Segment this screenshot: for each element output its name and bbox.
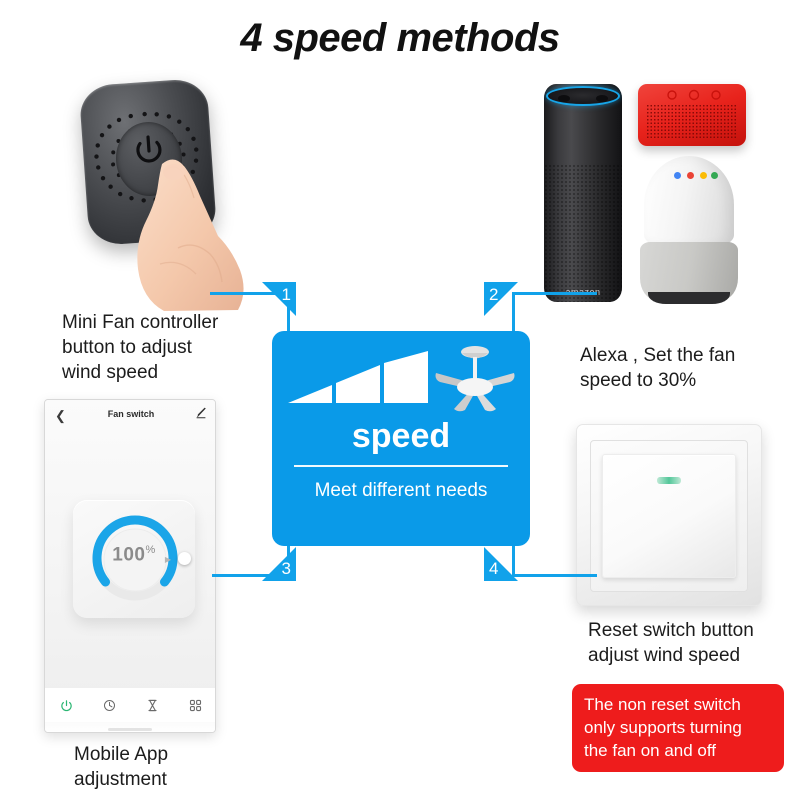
caption-3-line-2: adjustment [74,767,254,792]
echo-button-left [558,95,570,102]
step-number-4: 4 [489,559,498,579]
led-dot-green [711,172,718,179]
step-badge-1: 1 [262,282,296,316]
ceiling-fan-icon [432,345,518,415]
clock-icon [103,699,116,712]
led-dot-yellow [700,172,707,179]
caption-method-1: Mini Fan controller button to adjust win… [62,310,277,385]
step-badge-2: 2 [484,282,518,316]
power-tab[interactable] [45,699,88,712]
app-top-bar: ❮ Fan switch [45,406,216,428]
step-number-3: 3 [282,559,291,579]
app-title: Fan switch [45,409,216,419]
red-speaker-grill [646,104,738,138]
warning-line-3: the fan on and off [584,739,774,762]
hourglass-icon [146,699,159,712]
more-tab[interactable] [174,699,216,712]
amazon-echo: amazon [544,84,622,302]
warning-line-1: The non reset switch [584,693,774,716]
warning-line-2: only supports turning [584,716,774,739]
caption-1-line-3: wind speed [62,360,277,385]
switch-rocker-button[interactable] [602,454,736,578]
smart-speakers-group: amazon [522,72,784,317]
fan-speed-dial-card: 100% ▶ [73,500,195,618]
step-badge-3: 3 [262,547,296,581]
dial-caret-icon: ▶ [165,555,171,564]
card-divider [294,465,508,467]
mobile-app-phone: ❮ Fan switch 100% ▶ [44,399,216,733]
caption-4-line-1: Reset switch button [588,618,798,643]
phone-screen: ❮ Fan switch 100% ▶ [45,400,215,732]
caption-2-line-2: speed to 30% [580,368,790,393]
pencil-edit-icon[interactable] [195,407,207,419]
page-title: 4 speed methods [0,16,800,61]
dial-value-label: 100% [73,544,195,566]
dial-value-number: 100 [112,544,145,565]
card-heading: speed [272,417,530,455]
dial-handle[interactable] [178,552,191,565]
red-bluetooth-speaker [638,84,746,146]
grid-icon [189,699,202,712]
center-speed-card: speed Meet different needs [272,331,530,546]
home-indicator [108,728,152,731]
echo-light-ring [546,86,620,106]
echo-button-right [596,95,608,102]
led-dot-blue [674,172,681,179]
signal-bars-icon [288,351,428,409]
caption-1-line-2: button to adjust [62,335,277,360]
step-number-1: 1 [282,285,291,305]
caption-method-4: Reset switch button adjust wind speed [588,618,798,668]
led-dot-red [687,172,694,179]
timer-tab[interactable] [88,699,131,712]
caption-2-line-1: Alexa , Set the fan [580,343,790,368]
card-subheading: Meet different needs [272,480,530,502]
wall-switch [576,424,762,606]
step-badge-4: 4 [484,547,518,581]
connector-line-2 [512,292,597,295]
speaker-buttons-icon [662,88,726,102]
caption-method-3: Mobile App adjustment [74,742,254,792]
countdown-tab[interactable] [131,699,174,712]
mini-fan-controller [76,78,266,308]
google-home-top [644,156,734,248]
caption-3-line-1: Mobile App [74,742,254,767]
google-home-led-dots [674,172,718,186]
connector-line-4 [512,574,597,577]
caption-4-line-2: adjust wind speed [588,643,798,668]
echo-speaker-mesh [544,164,622,302]
dial-value-unit: % [145,544,155,556]
app-tab-bar [45,688,216,722]
pointing-hand [104,136,274,311]
warning-banner: The non reset switch only supports turni… [572,684,784,772]
caption-method-2: Alexa , Set the fan speed to 30% [580,343,790,393]
power-icon [60,699,73,712]
google-home-foot [648,292,730,304]
caption-1-line-1: Mini Fan controller [62,310,277,335]
infographic-canvas: 4 speed methods 1 2 3 4 [0,0,800,800]
step-number-2: 2 [489,285,498,305]
card-icon-row [272,345,530,415]
google-home [640,156,738,306]
switch-led-indicator [657,477,681,484]
